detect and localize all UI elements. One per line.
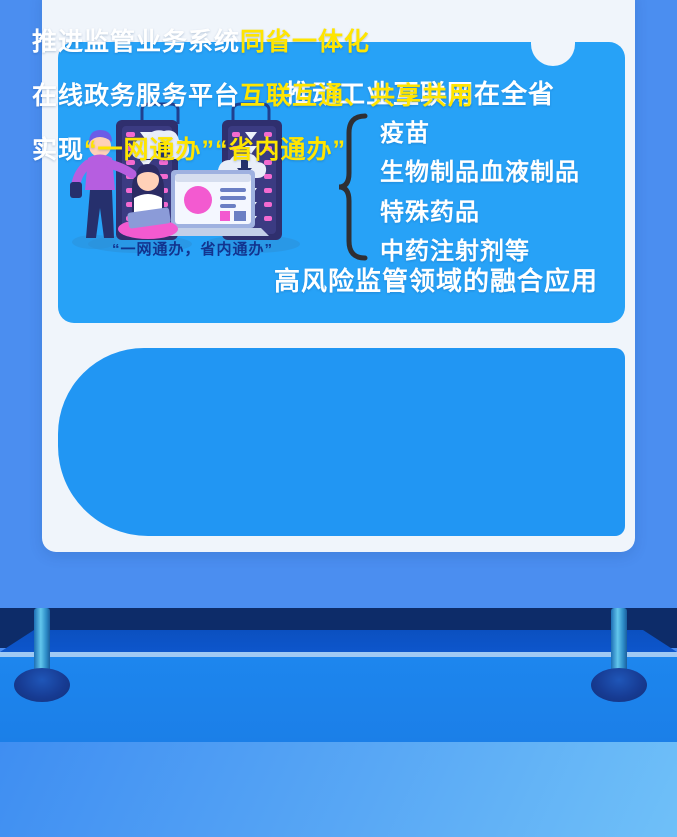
card2-line-1-plain: 推进监管业务系统 — [32, 28, 240, 56]
easel-foot-left — [14, 668, 70, 702]
data-center-servers-cloud-icon — [70, 98, 315, 258]
bottom-section: 提升专业监管能力 — [0, 742, 677, 837]
infographic-stage: “一网通办，省内通办” 推动工业互联网在全省 疫苗 生物制品血液制品 特殊药品 … — [0, 0, 677, 837]
illustration-caption: “一网通办，省内通办” — [70, 238, 315, 259]
easel-foot-right — [591, 668, 647, 702]
card2-line-2-highlight: 互联互通、共享共用 — [240, 82, 474, 110]
card2-line-3-plain: 实现 — [32, 136, 84, 164]
card1-item-1: 疫苗 — [380, 113, 430, 148]
floor-surface — [0, 657, 677, 742]
background-right-edge — [635, 0, 677, 608]
card1-footer: 高风险监管领域的融合应用 — [274, 261, 598, 298]
card2-line-1-highlight: 同省一体化 — [240, 28, 370, 56]
card2-line-2-plain: 在线政务服务平台 — [32, 82, 240, 110]
card2-line-3: 实现“一网通办”“省内通办” — [32, 130, 346, 166]
easel-crossbar-shade — [0, 630, 677, 652]
card-integration-goals — [58, 348, 625, 536]
card1-item-3: 特殊药品 — [380, 192, 480, 227]
card2-line-2: 在线政务服务平台互联互通、共享共用 — [32, 76, 474, 112]
card2-line-3-highlight: “一网通办”“省内通办” — [84, 136, 346, 164]
card2-line-1: 推进监管业务系统同省一体化 — [32, 22, 370, 58]
card-notch-top — [531, 42, 575, 66]
card1-item-2: 生物制品血液制品 — [380, 152, 580, 187]
